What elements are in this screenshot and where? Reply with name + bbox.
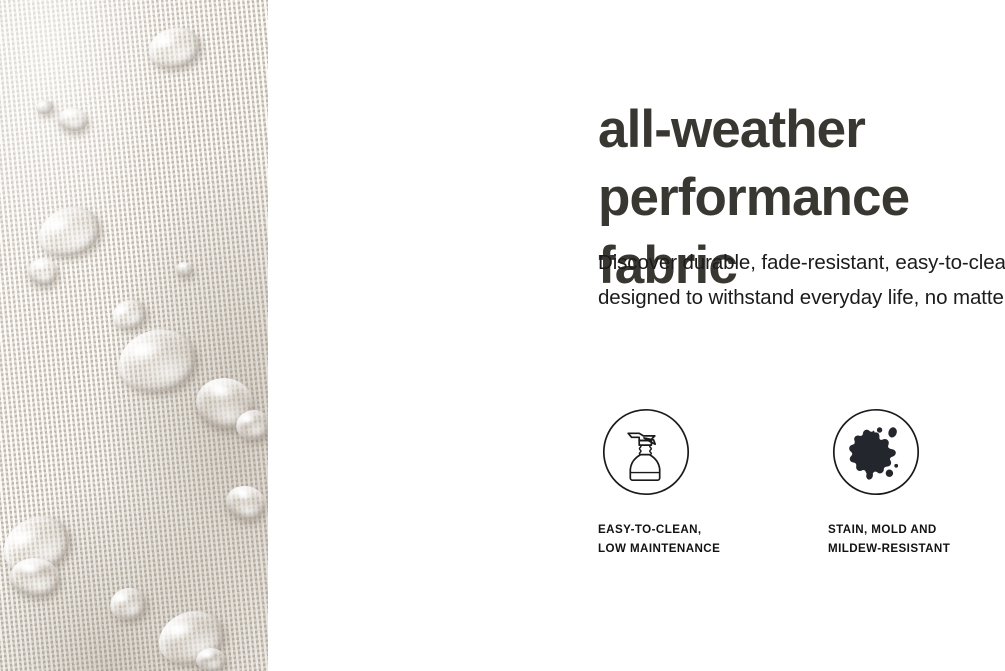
feature-item-easy-to-clean: EASY-TO-CLEAN, LOW MAINTENANCE (598, 404, 828, 558)
spray-bottle-icon (598, 404, 694, 500)
stain-splat-icon (828, 404, 924, 500)
all-weather-fabric-banner: all-weather performance fabric Discover … (0, 0, 1005, 671)
fabric-photo (0, 0, 268, 671)
body-copy: Discover durable, fade-resistant, easy-t… (598, 245, 1005, 315)
feature-list: EASY-TO-CLEAN, LOW MAINTENANCE STAIN, MO… (598, 404, 1005, 558)
body-copy-part-1: Discover durable, fade-resistant, easy-t… (598, 251, 1005, 274)
content-panel: all-weather performance fabric Discover … (268, 0, 1005, 671)
feature-caption: EASY-TO-CLEAN, LOW MAINTENANCE (598, 521, 828, 558)
feature-item-stain-resistant: STAIN, MOLD AND MILDEW-RESISTANT (828, 404, 1005, 558)
feature-caption: STAIN, MOLD AND MILDEW-RESISTANT (828, 521, 1005, 558)
